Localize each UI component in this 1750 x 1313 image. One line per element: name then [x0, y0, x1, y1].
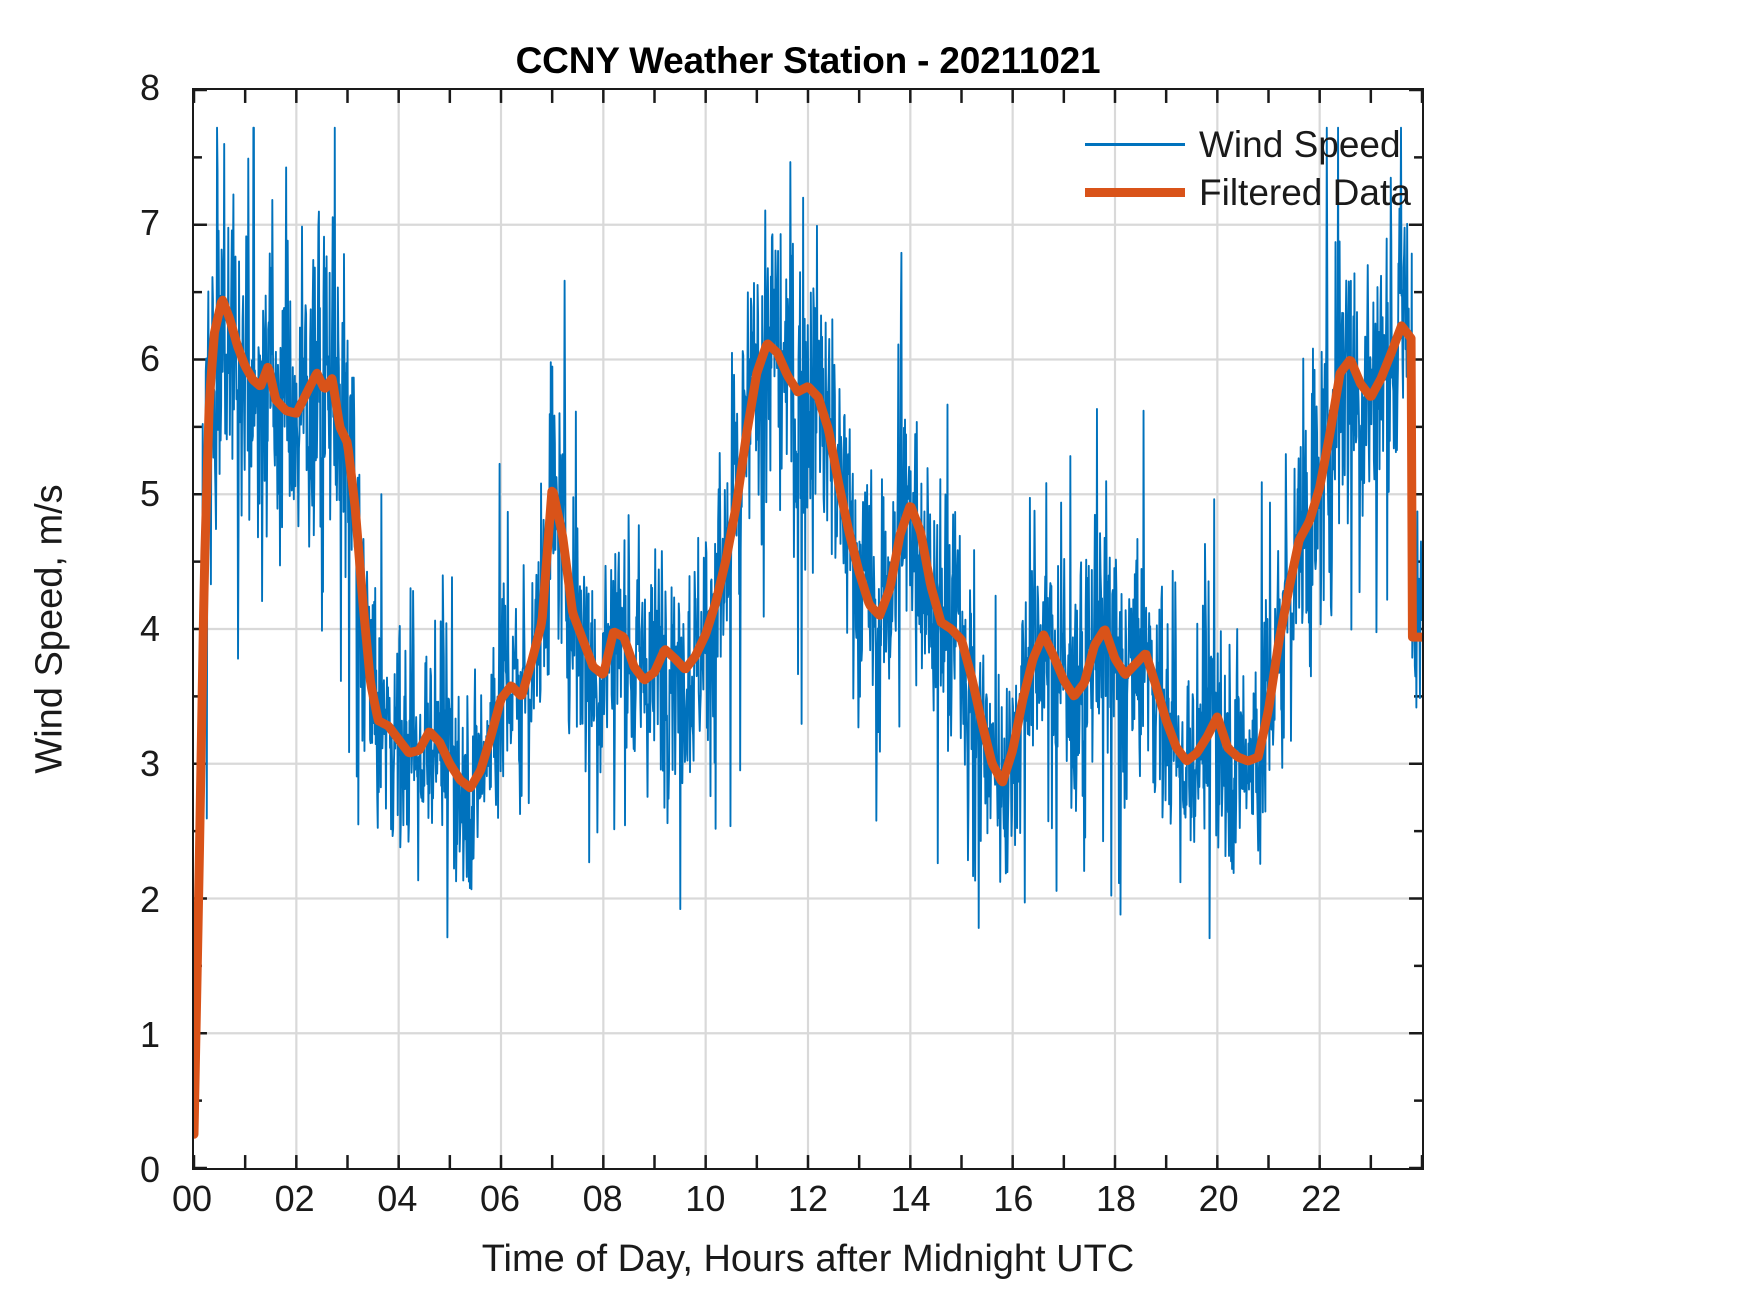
- x-tick-label: 18: [1096, 1178, 1136, 1220]
- x-tick-label: 22: [1301, 1178, 1341, 1220]
- y-tick-label: 3: [0, 743, 160, 785]
- plot-svg: [194, 90, 1422, 1168]
- x-axis-title: Time of Day, Hours after Midnight UTC: [192, 1238, 1424, 1281]
- y-tick-label: 5: [0, 473, 160, 515]
- x-tick-label: 20: [1199, 1178, 1239, 1220]
- legend-label-filtered-data: Filtered Data: [1199, 174, 1411, 211]
- y-tick-label: 8: [0, 67, 160, 109]
- x-tick-label: 08: [583, 1178, 623, 1220]
- legend-item-wind-speed[interactable]: Wind Speed: [1085, 122, 1395, 166]
- legend-label-wind-speed: Wind Speed: [1199, 126, 1401, 163]
- chart-legend: Wind Speed Filtered Data: [1085, 122, 1395, 212]
- y-axis-tick-labels: 012345678: [0, 0, 180, 1313]
- y-tick-label: 6: [0, 338, 160, 380]
- x-tick-label: 02: [275, 1178, 315, 1220]
- y-tick-label: 4: [0, 608, 160, 650]
- x-axis-tick-labels: 000204060810121416182022: [0, 1178, 1750, 1238]
- x-tick-label: 12: [788, 1178, 828, 1220]
- y-tick-label: 1: [0, 1014, 160, 1056]
- x-tick-label: 10: [685, 1178, 725, 1220]
- y-tick-label: 2: [0, 879, 160, 921]
- y-tick-label: 7: [0, 202, 160, 244]
- x-tick-label: 00: [172, 1178, 212, 1220]
- y-axis-title: Wind Speed, m/s: [29, 279, 72, 979]
- legend-swatch-filtered-data: [1085, 188, 1185, 197]
- plot-area[interactable]: [192, 88, 1424, 1170]
- x-tick-label: 16: [993, 1178, 1033, 1220]
- x-tick-label: 04: [377, 1178, 417, 1220]
- legend-swatch-wind-speed: [1085, 143, 1185, 146]
- page-title: CCNY Weather Station - 20211021: [192, 40, 1424, 82]
- legend-item-filtered-data[interactable]: Filtered Data: [1085, 170, 1395, 214]
- figure-canvas: CCNY Weather Station - 20211021 01234567…: [0, 0, 1750, 1313]
- x-tick-label: 14: [891, 1178, 931, 1220]
- x-tick-label: 06: [480, 1178, 520, 1220]
